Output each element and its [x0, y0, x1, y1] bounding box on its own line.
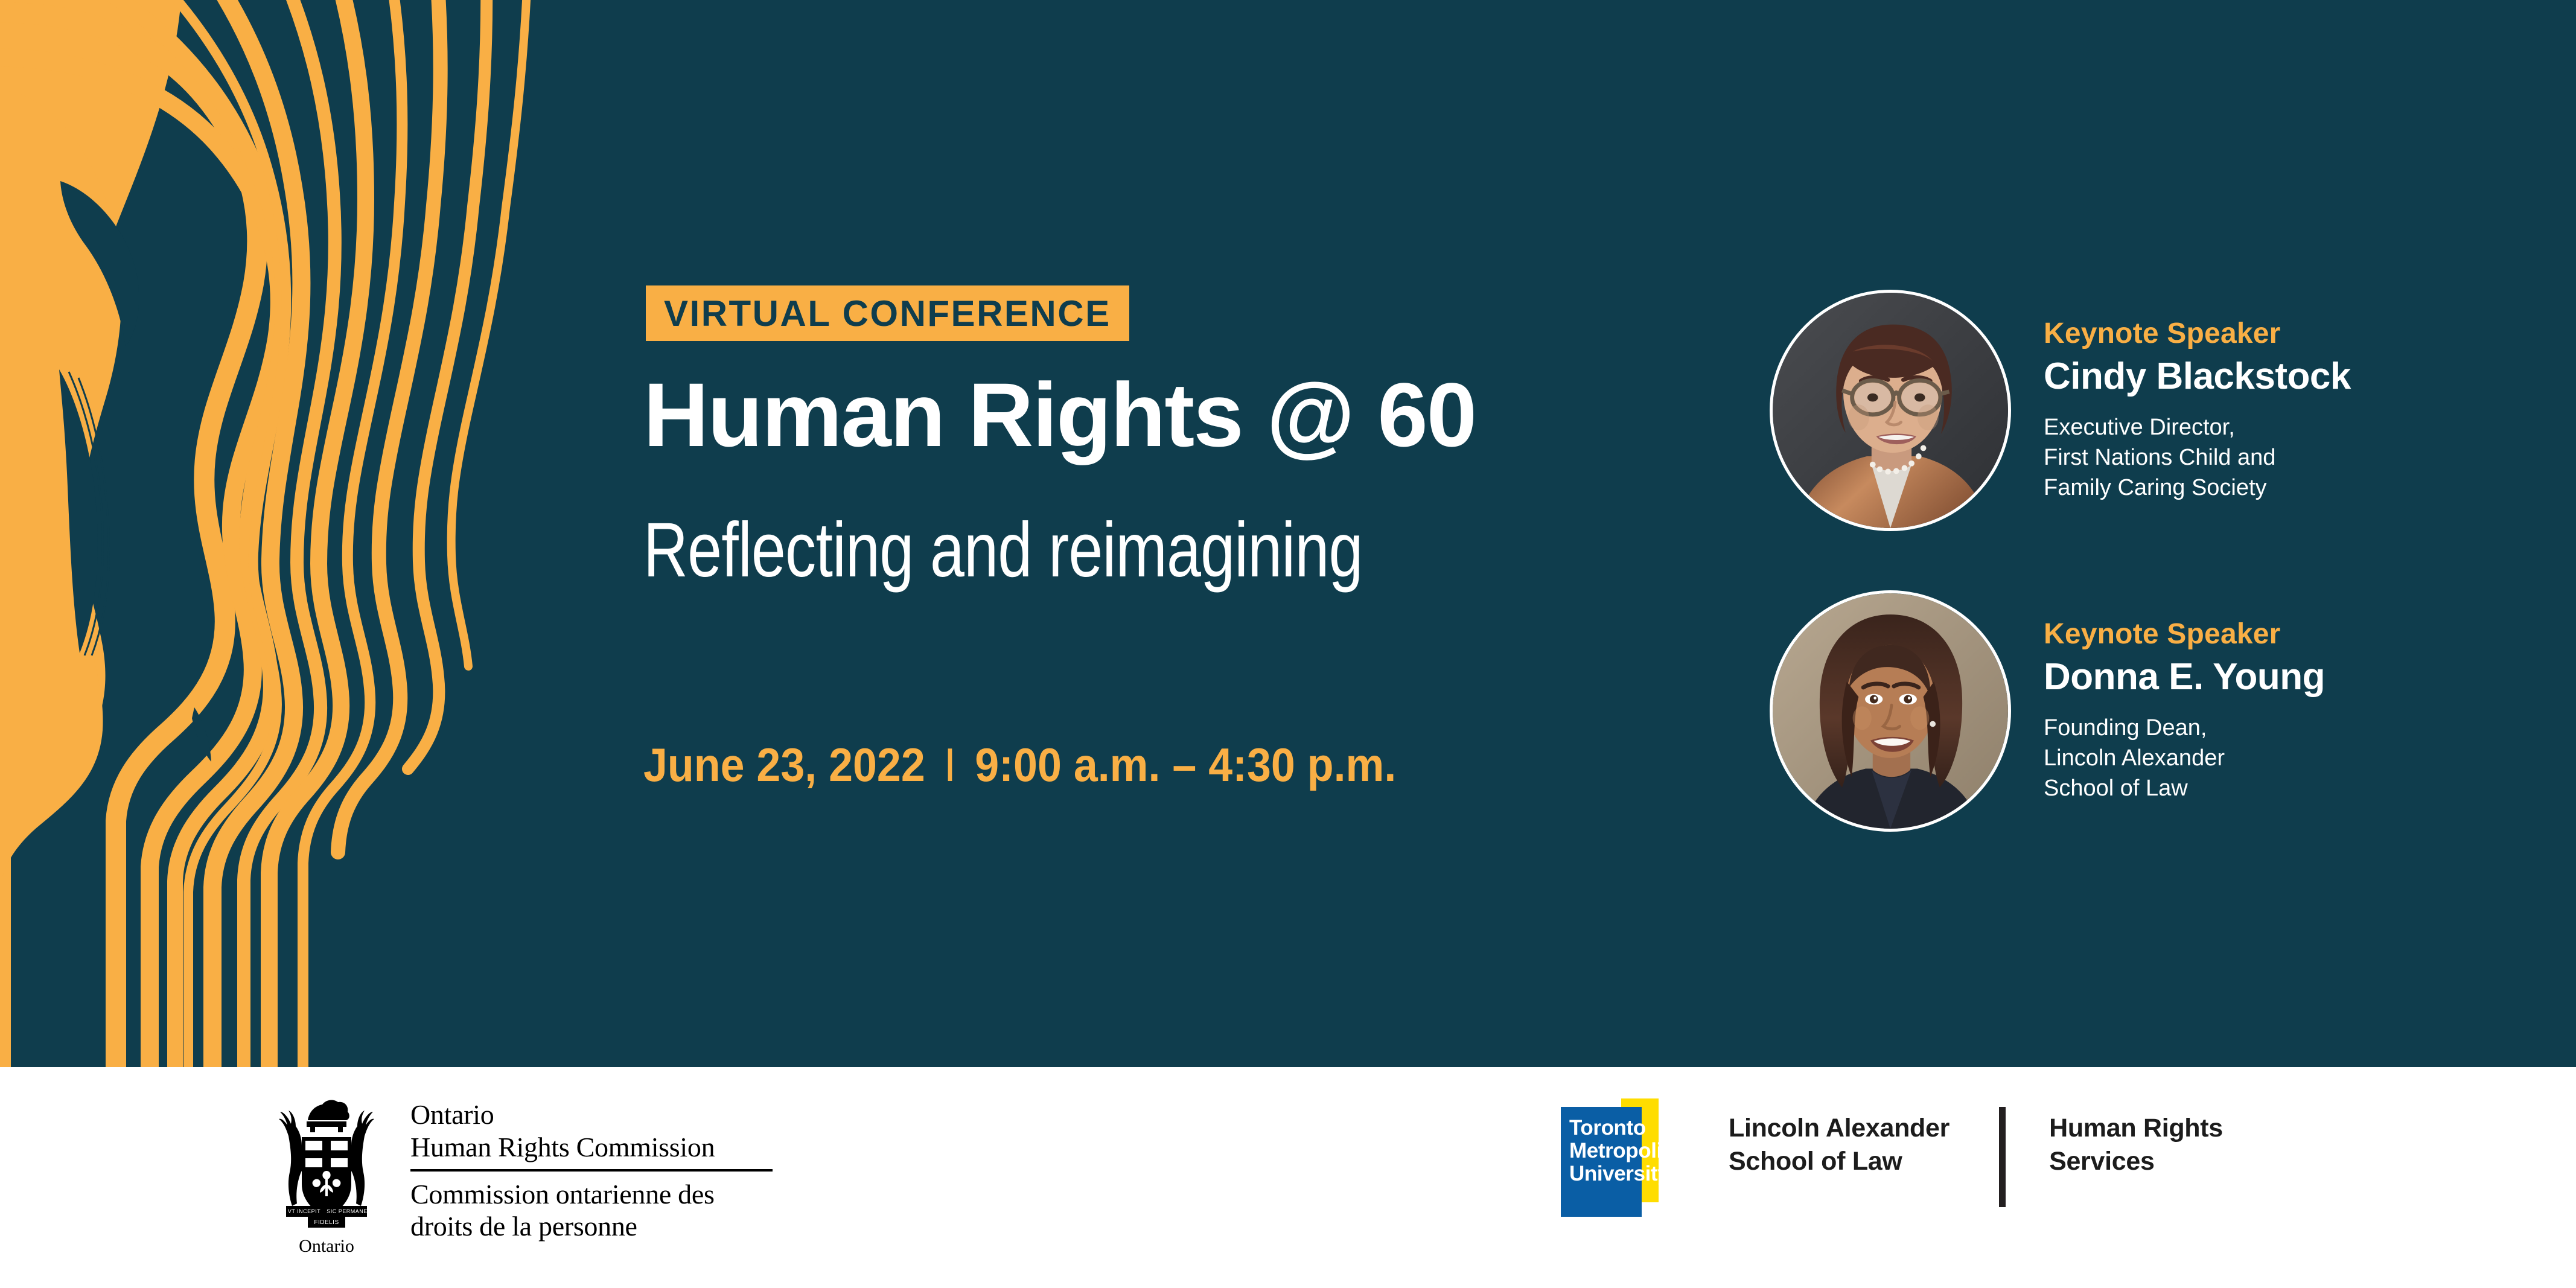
speaker-card-cindy-blackstock: Keynote Speaker Cindy Blackstock Executi…	[1770, 290, 2351, 531]
event-date: June 23, 2022	[643, 738, 925, 792]
human-rights-services-wordmark: Human Rights Services	[2049, 1098, 2223, 1178]
ohrc-wordmark: Ontario Human Rights Commission Commissi…	[410, 1094, 773, 1243]
speaker-affiliation: Executive Director, First Nations Child …	[2044, 412, 2351, 503]
conference-banner: VIRTUAL CONFERENCE Human Rights @ 60 Ref…	[0, 0, 2576, 1288]
affiliation-line: Family Caring Society	[2044, 473, 2351, 503]
toronto-metropolitan-university-logo: Toronto Metropolitan University	[1561, 1098, 1675, 1217]
speaker-details: Keynote Speaker Donna E. Young Founding …	[2044, 590, 2325, 803]
avatar	[1770, 290, 2011, 531]
lincoln-alexander-school-of-law-wordmark: Lincoln Alexander School of Law	[1729, 1098, 1950, 1178]
hrs-line2: Services	[2049, 1145, 2223, 1178]
tmu-line1: Toronto	[1569, 1117, 1642, 1140]
affiliation-line: First Nations Child and	[2044, 442, 2351, 473]
ohrc-fr-line2: droits de la personne	[410, 1210, 773, 1243]
crest-caption: Ontario	[270, 1236, 383, 1257]
virtual-conference-badge: VIRTUAL CONFERENCE	[646, 285, 1129, 341]
tmu-blue-block: Toronto Metropolitan University	[1561, 1107, 1642, 1217]
svg-text:SIC PERMANET: SIC PERMANET	[327, 1208, 371, 1214]
affiliation-line: Executive Director,	[2044, 412, 2351, 442]
speaker-name: Donna E. Young	[2044, 657, 2325, 698]
ohrc-logo: VT INCEPIT SIC PERMANET FIDELIS Ontario …	[270, 1094, 773, 1257]
tmu-line3: University	[1569, 1162, 1642, 1185]
footer-logo-bar: VT INCEPIT SIC PERMANET FIDELIS Ontario …	[0, 1067, 2576, 1288]
partner-logos: Toronto Metropolitan University Lincoln …	[1561, 1098, 2223, 1217]
las-line1: Lincoln Alexander	[1729, 1112, 1950, 1145]
affiliation-line: Founding Dean,	[2044, 713, 2325, 743]
tmu-line2: Metropolitan	[1569, 1140, 1642, 1162]
speaker-name: Cindy Blackstock	[2044, 356, 2351, 397]
las-line2: School of Law	[1729, 1145, 1950, 1178]
footer-vertical-divider	[1999, 1107, 2006, 1207]
event-time: 9:00 a.m. – 4:30 p.m.	[975, 738, 1396, 792]
ohrc-fr-line1: Commission ontarienne des	[410, 1178, 773, 1211]
speaker-role: Keynote Speaker	[2044, 619, 2325, 649]
svg-text:VT INCEPIT: VT INCEPIT	[288, 1208, 320, 1214]
datetime-separator: I	[944, 738, 956, 792]
ohrc-en-line2: Human Rights Commission	[410, 1131, 773, 1164]
ohrc-en-line1: Ontario	[410, 1098, 773, 1131]
page-subtitle: Reflecting and reimagining	[643, 512, 1363, 589]
speaker-role: Keynote Speaker	[2044, 319, 2351, 349]
speaker-details: Keynote Speaker Cindy Blackstock Executi…	[2044, 290, 2351, 503]
svg-text:FIDELIS: FIDELIS	[314, 1219, 339, 1226]
affiliation-line: Lincoln Alexander	[2044, 743, 2325, 773]
avatar	[1770, 590, 2011, 832]
hero-stage: VIRTUAL CONFERENCE Human Rights @ 60 Ref…	[0, 0, 2576, 1067]
page-title: Human Rights @ 60	[643, 369, 1476, 460]
speaker-affiliation: Founding Dean, Lincoln Alexander School …	[2044, 713, 2325, 803]
ohrc-divider	[410, 1169, 773, 1172]
speaker-card-donna-e-young: Keynote Speaker Donna E. Young Founding …	[1770, 590, 2325, 832]
affiliation-line: School of Law	[2044, 773, 2325, 803]
hrs-line1: Human Rights	[2049, 1112, 2223, 1145]
event-datetime: June 23, 2022 I 9:00 a.m. – 4:30 p.m.	[643, 738, 1396, 792]
ontario-coat-of-arms-icon: VT INCEPIT SIC PERMANET FIDELIS Ontario	[270, 1094, 383, 1257]
